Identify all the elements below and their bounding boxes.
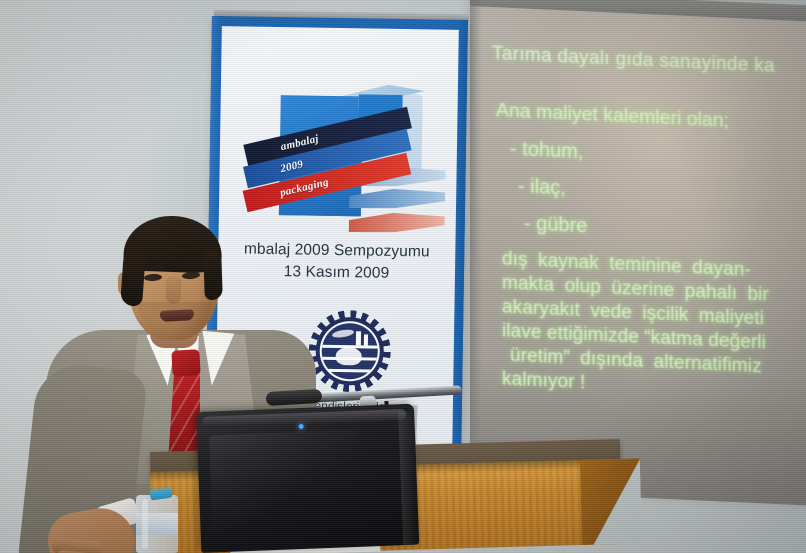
speaker-mouth xyxy=(160,309,195,322)
speaker-hair-side-left xyxy=(120,249,146,306)
gear-smoke-shape xyxy=(332,328,355,338)
laptop-lid-sheen xyxy=(209,430,363,536)
logo-swoosh-2 xyxy=(349,188,445,210)
laptop-power-led xyxy=(299,424,304,429)
necktie-knot xyxy=(171,349,200,376)
speaker-hair-side-right xyxy=(203,250,223,301)
speaker-nose xyxy=(166,276,181,304)
conference-photo: Tarıma dayalı gıda sanayinde ka Ana mali… xyxy=(0,0,806,553)
logo-swoosh-3 xyxy=(349,212,445,234)
water-bottle-highlight xyxy=(142,499,148,549)
gear-band-1 xyxy=(322,345,378,349)
gear-chimney-1 xyxy=(356,331,361,345)
symposium-logo-icon: ambalaj 2009 packaging xyxy=(253,79,445,232)
projection-screen xyxy=(470,0,806,506)
laptop-hinge xyxy=(202,409,406,428)
laptop[interactable] xyxy=(196,404,419,553)
gear-chimney-2 xyxy=(364,334,368,345)
podium-right-edge xyxy=(580,458,642,545)
gear-band-2 xyxy=(322,357,378,361)
water-bottle[interactable] xyxy=(136,495,178,553)
